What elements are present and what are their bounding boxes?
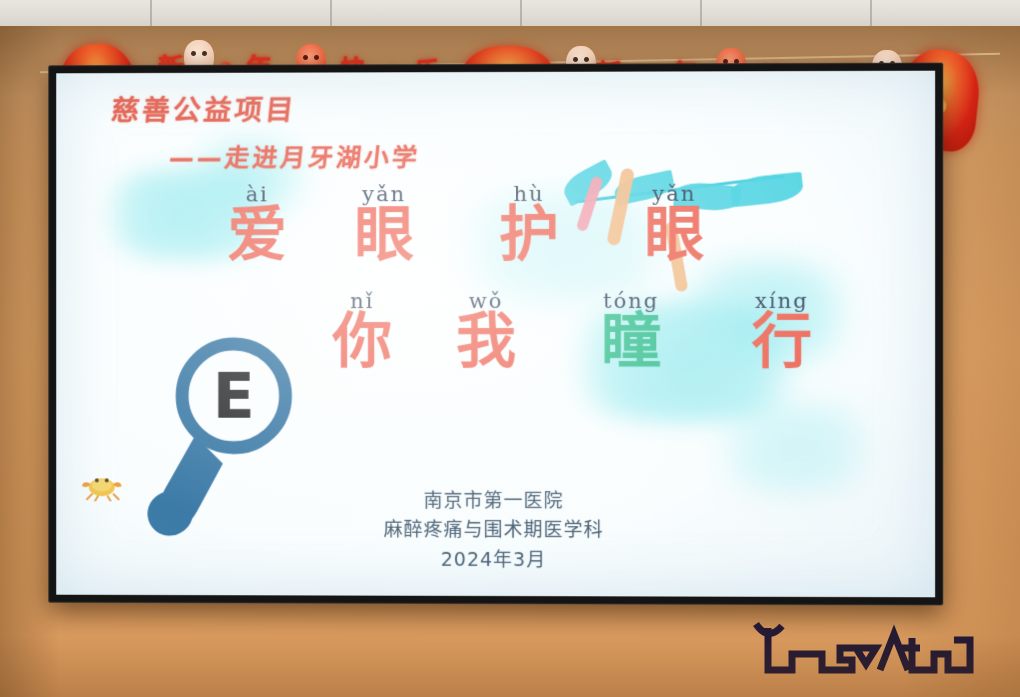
hanzi-2-1: 我 [416,311,556,374]
hanzi-2-0: 你 [308,311,416,374]
projector-screen: 慈善公益项目 ——走进月牙湖小学 ài yǎn hù yǎn 爱 眼 护 眼 [56,71,935,598]
hanzi-1-3: 眼 [599,204,750,267]
projector-screen-frame: 慈善公益项目 ——走进月牙湖小学 ài yǎn hù yǎn 爱 眼 护 眼 [48,63,943,606]
magnifier-letter: E [213,361,255,433]
footer-dept: 麻醉疼痛与围术期医学科 [56,516,935,547]
hanzi-1-0: 爱 [205,204,309,267]
hanzi-row-1: 爱 眼 护 眼 [205,203,906,267]
footer-org: 南京市第一医院 [56,486,935,517]
slide-title: 慈善公益项目 ——走进月牙湖小学 [112,88,580,175]
hanzi-1-2: 护 [459,204,599,267]
slogan-block: ài yǎn hù yǎn 爱 眼 护 眼 nǐ wǒ tóng x [205,181,906,374]
slide-title-line1: 慈善公益项目 [110,88,583,129]
footer-date: 2024年3月 [56,545,935,577]
hanzi-2-2: 瞳 [556,311,706,374]
hanzi-2-3: 行 [706,311,857,374]
photo-scene: 新 年 快 乐 新 年 快 乐 [0,0,1020,697]
slide-title-line2: ——走进月牙湖小学 [167,138,582,175]
hanzi-row-2: 你 我 瞳 行 [308,311,905,374]
slide-footer: 南京市第一医院 麻醉疼痛与围术期医学科 2024年3月 [56,486,935,576]
cloud-decor-6 [694,402,895,493]
lower-wall-shading [0,637,1020,697]
hanzi-1-1: 眼 [309,204,459,267]
